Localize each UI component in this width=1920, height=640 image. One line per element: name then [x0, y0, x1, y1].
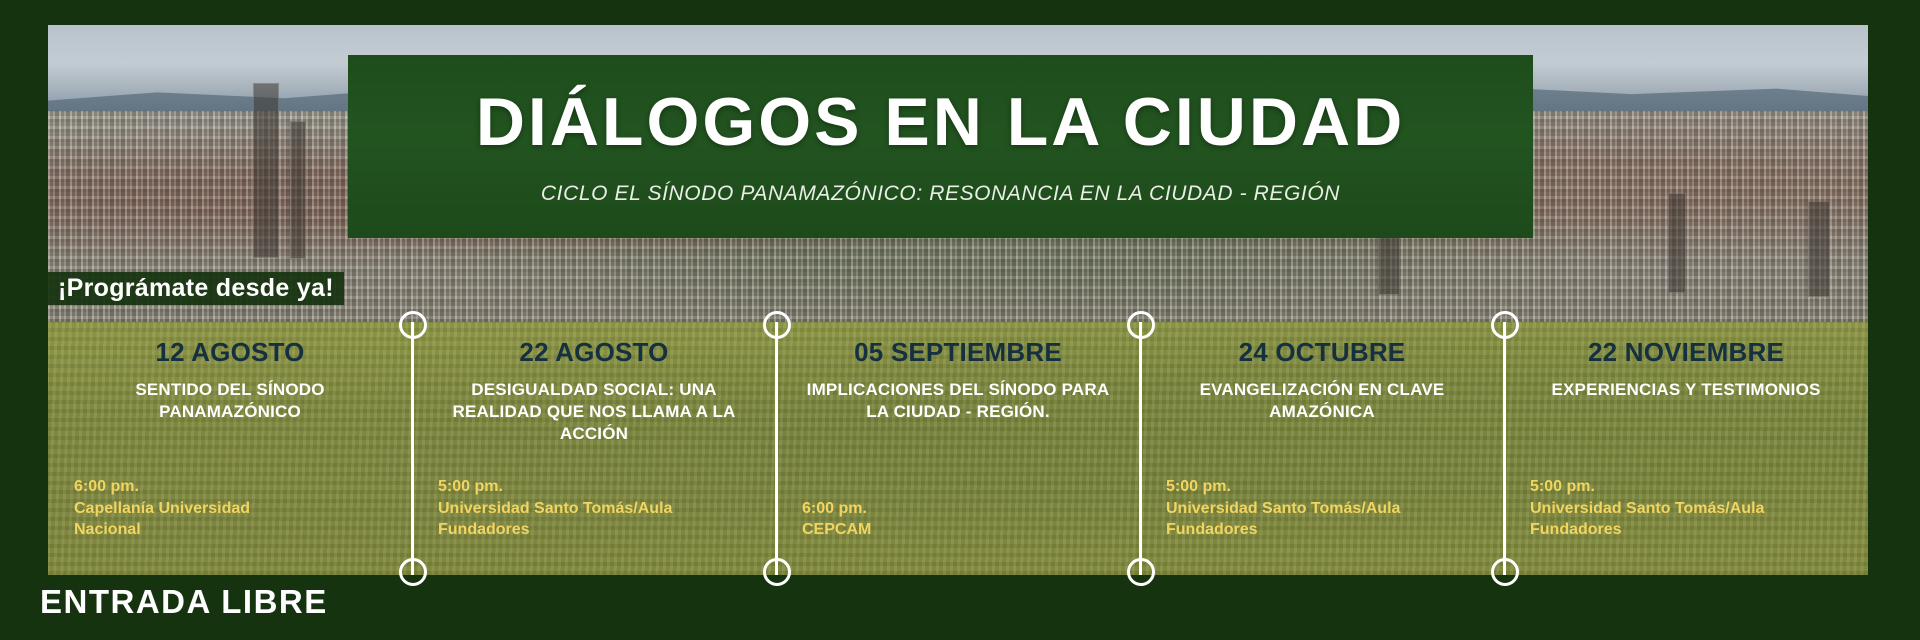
tower-building [253, 83, 279, 258]
timeline-node-icon [763, 558, 791, 586]
tower-building [1668, 193, 1686, 293]
event-time: 5:00 pm. [1530, 476, 1842, 498]
title-panel: DIÁLOGOS EN LA CIUDAD CICLO EL SÍNODO PA… [348, 55, 1533, 238]
tower-building [1808, 201, 1830, 297]
event-venue-line-2: Fundadores [438, 519, 750, 541]
event-topic: EXPERIENCIAS Y TESTIMONIOS [1530, 379, 1842, 401]
event-details: 6:00 pm. Capellanía Universidad Nacional [74, 476, 386, 541]
page-subtitle: CICLO EL SÍNODO PANAMAZÓNICO: RESONANCIA… [541, 182, 1340, 206]
tower-building [290, 121, 306, 259]
event-venue-line-1: Universidad Santo Tomás/Aula [1166, 498, 1478, 520]
event-topic: SENTIDO DEL SÍNODO PANAMAZÓNICO [74, 379, 386, 423]
callout-banner: ¡Prográmate desde ya! [48, 272, 344, 305]
event-time: 6:00 pm. [74, 476, 386, 498]
event-poster: DIÁLOGOS EN LA CIUDAD CICLO EL SÍNODO PA… [0, 0, 1920, 640]
timeline-node-icon [399, 311, 427, 339]
timeline-item-1: 12 AGOSTO SENTIDO DEL SÍNODO PANAMAZÓNIC… [48, 322, 412, 575]
timeline-divider [775, 322, 778, 575]
event-details: 5:00 pm. Universidad Santo Tomás/Aula Fu… [1530, 476, 1842, 541]
timeline-node-icon [763, 311, 791, 339]
event-date: 22 NOVIEMBRE [1530, 338, 1842, 367]
event-topic: DESIGUALDAD SOCIAL: UNA REALIDAD QUE NOS… [438, 379, 750, 445]
footer-entrada-libre: ENTRADA LIBRE [40, 583, 328, 621]
event-time: 6:00 pm. [802, 498, 1114, 520]
event-details: 5:00 pm. Universidad Santo Tomás/Aula Fu… [438, 476, 750, 541]
timeline-divider [1503, 322, 1506, 575]
timeline-item-3: 05 SEPTIEMBRE IMPLICACIONES DEL SÍNODO P… [776, 322, 1140, 575]
timeline-node-icon [1491, 558, 1519, 586]
timeline-divider [411, 322, 414, 575]
timeline-node-icon [1127, 558, 1155, 586]
event-venue-line-2: Fundadores [1166, 519, 1478, 541]
event-details: 6:00 pm. CEPCAM [802, 498, 1114, 541]
timeline-item-4: 24 OCTUBRE EVANGELIZACIÓN EN CLAVE AMAZÓ… [1140, 322, 1504, 575]
event-venue-line-2: Fundadores [1530, 519, 1842, 541]
event-time: 5:00 pm. [1166, 476, 1478, 498]
page-title: DIÁLOGOS EN LA CIUDAD [476, 88, 1405, 156]
event-topic: EVANGELIZACIÓN EN CLAVE AMAZÓNICA [1166, 379, 1478, 423]
event-venue-line-2: Nacional [74, 519, 386, 541]
event-venue-line-1: Capellanía Universidad [74, 498, 386, 520]
timeline-item-5: 22 NOVIEMBRE EXPERIENCIAS Y TESTIMONIOS … [1504, 322, 1868, 575]
event-venue-line-1: Universidad Santo Tomás/Aula [1530, 498, 1842, 520]
event-topic: IMPLICACIONES DEL SÍNODO PARA LA CIUDAD … [802, 379, 1114, 423]
event-venue-line-1: Universidad Santo Tomás/Aula [438, 498, 750, 520]
event-time: 5:00 pm. [438, 476, 750, 498]
timeline-node-icon [399, 558, 427, 586]
event-venue-line-1: CEPCAM [802, 519, 1114, 541]
event-date: 22 AGOSTO [438, 338, 750, 367]
timeline-band: 12 AGOSTO SENTIDO DEL SÍNODO PANAMAZÓNIC… [48, 322, 1868, 575]
event-details: 5:00 pm. Universidad Santo Tomás/Aula Fu… [1166, 476, 1478, 541]
event-date: 12 AGOSTO [74, 338, 386, 367]
timeline-divider [1139, 322, 1142, 575]
timeline-node-icon [1127, 311, 1155, 339]
event-date: 05 SEPTIEMBRE [802, 338, 1114, 367]
event-date: 24 OCTUBRE [1166, 338, 1478, 367]
timeline-node-icon [1491, 311, 1519, 339]
timeline-item-2: 22 AGOSTO DESIGUALDAD SOCIAL: UNA REALID… [412, 322, 776, 575]
